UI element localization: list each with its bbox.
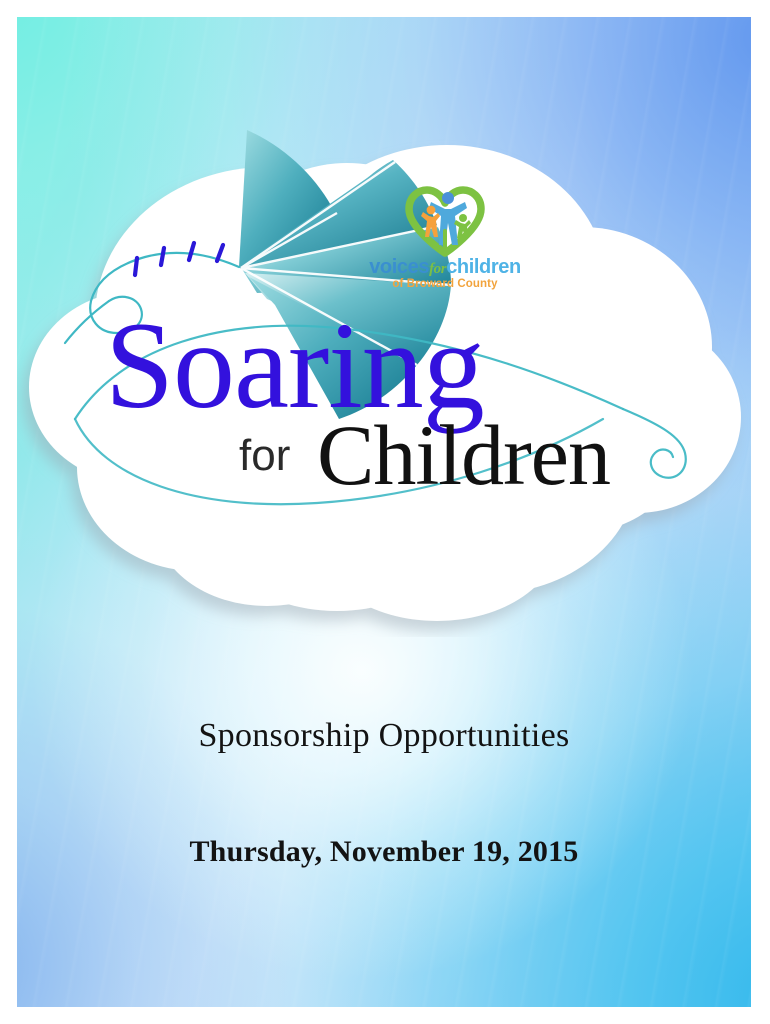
heart-with-figures-icon bbox=[399, 185, 491, 257]
org-logo-for: for bbox=[429, 261, 446, 277]
event-date: Thursday, November 19, 2015 bbox=[17, 755, 751, 869]
artboard: Soaring for Children bbox=[17, 17, 751, 1007]
org-logo-voices: voices bbox=[369, 256, 429, 278]
org-logo-line2: of Broward County bbox=[355, 279, 535, 291]
headline-block: Sponsorship Opportunities Thursday, Nove… bbox=[17, 717, 751, 869]
soaring-logo-artwork bbox=[17, 17, 751, 637]
org-logo-children: children bbox=[446, 256, 521, 278]
voices-for-children-logo: voicesforchildren of Broward County bbox=[355, 185, 535, 303]
org-logo-text: voicesforchildren of Broward County bbox=[355, 257, 535, 291]
org-logo-line1: voicesforchildren bbox=[355, 257, 535, 277]
flyer-page: Soaring for Children bbox=[0, 0, 770, 1024]
page-subtitle: Sponsorship Opportunities bbox=[17, 717, 751, 755]
